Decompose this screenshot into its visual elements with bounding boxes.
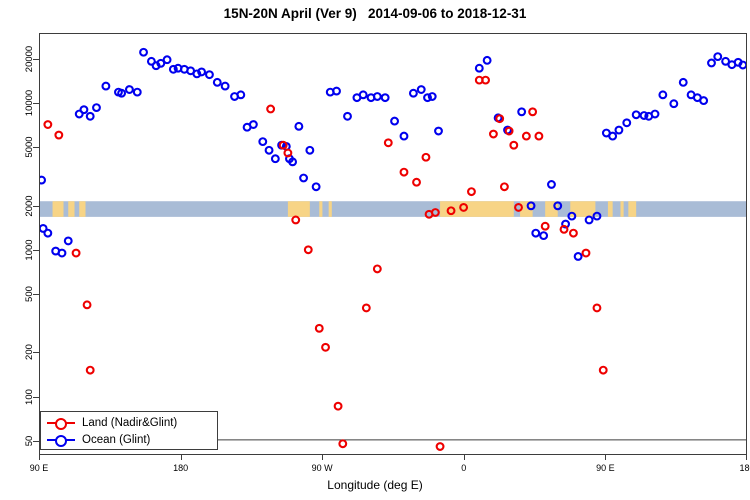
data-point-ocean (360, 91, 367, 98)
data-point-ocean (237, 91, 244, 98)
legend-label-ocean: Ocean (Glint) (82, 434, 150, 446)
map-land-segment (319, 201, 322, 217)
chart-figure: 15N-20N April (Ver 9) 2014-09-06 to 2018… (0, 0, 750, 500)
data-point-land (496, 115, 503, 122)
map-ocean-band (40, 201, 746, 217)
map-land-segment (79, 201, 85, 217)
x-tick-mark (464, 455, 465, 460)
data-point-land (292, 217, 299, 224)
data-point-land (490, 131, 497, 138)
data-point-ocean (708, 60, 715, 67)
data-point-ocean (484, 57, 491, 64)
y-tick-label: 500 (24, 274, 36, 314)
legend: Land (Nadir&Glint) Ocean (Glint) (40, 411, 218, 450)
data-point-ocean (670, 100, 677, 107)
data-point-ocean (575, 253, 582, 260)
x-tick-mark (605, 455, 606, 460)
y-tick-label: 100 (24, 377, 36, 417)
data-point-ocean (410, 90, 417, 97)
map-land-segment (68, 201, 74, 217)
data-point-ocean (87, 113, 94, 120)
data-point-ocean (401, 133, 408, 140)
data-point-ocean (714, 53, 721, 60)
data-point-ocean (623, 119, 630, 126)
data-point-ocean (429, 93, 436, 100)
data-point-ocean (548, 181, 555, 188)
map-land-segment (53, 201, 64, 217)
x-tick-mark (746, 455, 747, 460)
map-land-segment (329, 201, 332, 217)
data-point-land (482, 77, 489, 84)
data-point-ocean (633, 111, 640, 118)
data-point-ocean (126, 86, 133, 93)
data-point-ocean (140, 49, 147, 56)
data-point-ocean (616, 127, 623, 134)
series-land-points (44, 77, 606, 450)
map-land-segment (288, 201, 310, 217)
data-point-ocean (222, 83, 229, 90)
data-point-land (316, 325, 323, 332)
data-point-land (284, 150, 291, 157)
data-point-land (510, 142, 517, 149)
y-tick-label: 50 (24, 421, 36, 461)
data-point-land (529, 108, 536, 115)
data-point-land (267, 106, 274, 113)
data-point-ocean (700, 97, 707, 104)
x-tick-label: 90 W (299, 463, 345, 473)
data-point-ocean (532, 230, 539, 237)
data-point-ocean (586, 217, 593, 224)
y-tick-label: 2000 (24, 186, 36, 226)
y-tick-label: 200 (24, 332, 36, 372)
map-land-segment (620, 201, 623, 217)
x-tick-label: 0 (441, 463, 487, 473)
data-point-land (468, 188, 475, 195)
data-point-ocean (59, 250, 66, 257)
data-point-ocean (44, 230, 51, 237)
x-tick-label: 180 (724, 463, 750, 473)
data-point-land (542, 223, 549, 230)
data-point-land (501, 183, 508, 190)
data-point-ocean (198, 69, 205, 76)
data-point-ocean (300, 175, 307, 182)
page-title: 15N-20N April (Ver 9) 2014-09-06 to 2018… (0, 6, 750, 21)
data-point-ocean (266, 147, 273, 154)
data-point-land (322, 344, 329, 351)
data-point-ocean (206, 71, 213, 78)
data-point-land (437, 443, 444, 450)
plot-area (39, 33, 747, 455)
data-point-ocean (540, 232, 547, 239)
x-tick-label: 180 (158, 463, 204, 473)
data-point-ocean (418, 86, 425, 93)
data-point-land (374, 266, 381, 273)
data-point-ocean (164, 56, 171, 63)
data-point-ocean (652, 111, 659, 118)
data-point-ocean (272, 155, 279, 162)
data-point-ocean (333, 88, 340, 95)
y-tick-label: 1000 (24, 230, 36, 270)
data-point-ocean (40, 177, 45, 184)
data-point-ocean (680, 79, 687, 86)
data-point-ocean (306, 147, 313, 154)
y-tick-label: 5000 (24, 127, 36, 167)
data-point-ocean (609, 133, 616, 140)
data-point-ocean (435, 128, 442, 135)
data-point-land (363, 305, 370, 312)
data-point-ocean (65, 238, 72, 245)
data-point-ocean (259, 138, 266, 145)
data-point-ocean (374, 93, 381, 100)
data-point-land (84, 301, 91, 308)
legend-item-land: Land (Nadir&Glint) (45, 414, 177, 431)
data-point-land (401, 169, 408, 176)
data-point-land (583, 250, 590, 257)
data-point-ocean (391, 118, 398, 125)
data-point-land (87, 367, 94, 374)
legend-marker-land-icon (45, 416, 77, 430)
y-tick-label: 10000 (24, 83, 36, 123)
data-point-land (423, 154, 430, 161)
legend-label-land: Land (Nadir&Glint) (82, 417, 177, 429)
series-ocean-points (40, 49, 746, 260)
data-point-land (335, 403, 342, 410)
data-point-ocean (214, 79, 221, 86)
data-point-land (523, 133, 530, 140)
data-point-ocean (93, 104, 100, 111)
data-point-ocean (250, 121, 257, 128)
map-land-segment (628, 201, 636, 217)
data-point-ocean (295, 123, 302, 130)
data-point-land (561, 226, 568, 233)
data-point-land (536, 133, 543, 140)
x-tick-mark (39, 455, 40, 460)
data-point-land (506, 128, 513, 135)
legend-item-ocean: Ocean (Glint) (45, 431, 150, 448)
data-point-ocean (518, 108, 525, 115)
data-point-ocean (739, 62, 746, 69)
data-point-ocean (103, 83, 110, 90)
data-point-land (339, 440, 346, 447)
data-point-land (570, 230, 577, 237)
x-tick-mark (181, 455, 182, 460)
map-land-segment (608, 201, 613, 217)
data-point-land (385, 139, 392, 146)
data-point-land (55, 132, 62, 139)
data-point-land (413, 179, 420, 186)
data-point-ocean (313, 183, 320, 190)
data-point-land (44, 121, 51, 128)
scatter-canvas (40, 34, 746, 454)
legend-marker-ocean-icon (45, 433, 77, 447)
data-point-ocean (382, 94, 389, 101)
x-tick-label: 90 E (582, 463, 628, 473)
data-point-ocean (344, 113, 351, 120)
x-axis-label: Longitude (deg E) (0, 478, 750, 492)
y-tick-label: 20000 (24, 39, 36, 79)
data-point-land (594, 305, 601, 312)
data-point-land (305, 246, 312, 253)
data-point-ocean (659, 91, 666, 98)
land-ocean-map-strip (40, 201, 746, 217)
data-point-land (73, 250, 80, 257)
x-tick-mark (322, 455, 323, 460)
data-point-ocean (134, 89, 141, 96)
data-point-ocean (476, 65, 483, 72)
data-point-land (600, 367, 607, 374)
data-point-ocean (81, 106, 88, 113)
x-tick-label: 90 E (16, 463, 62, 473)
